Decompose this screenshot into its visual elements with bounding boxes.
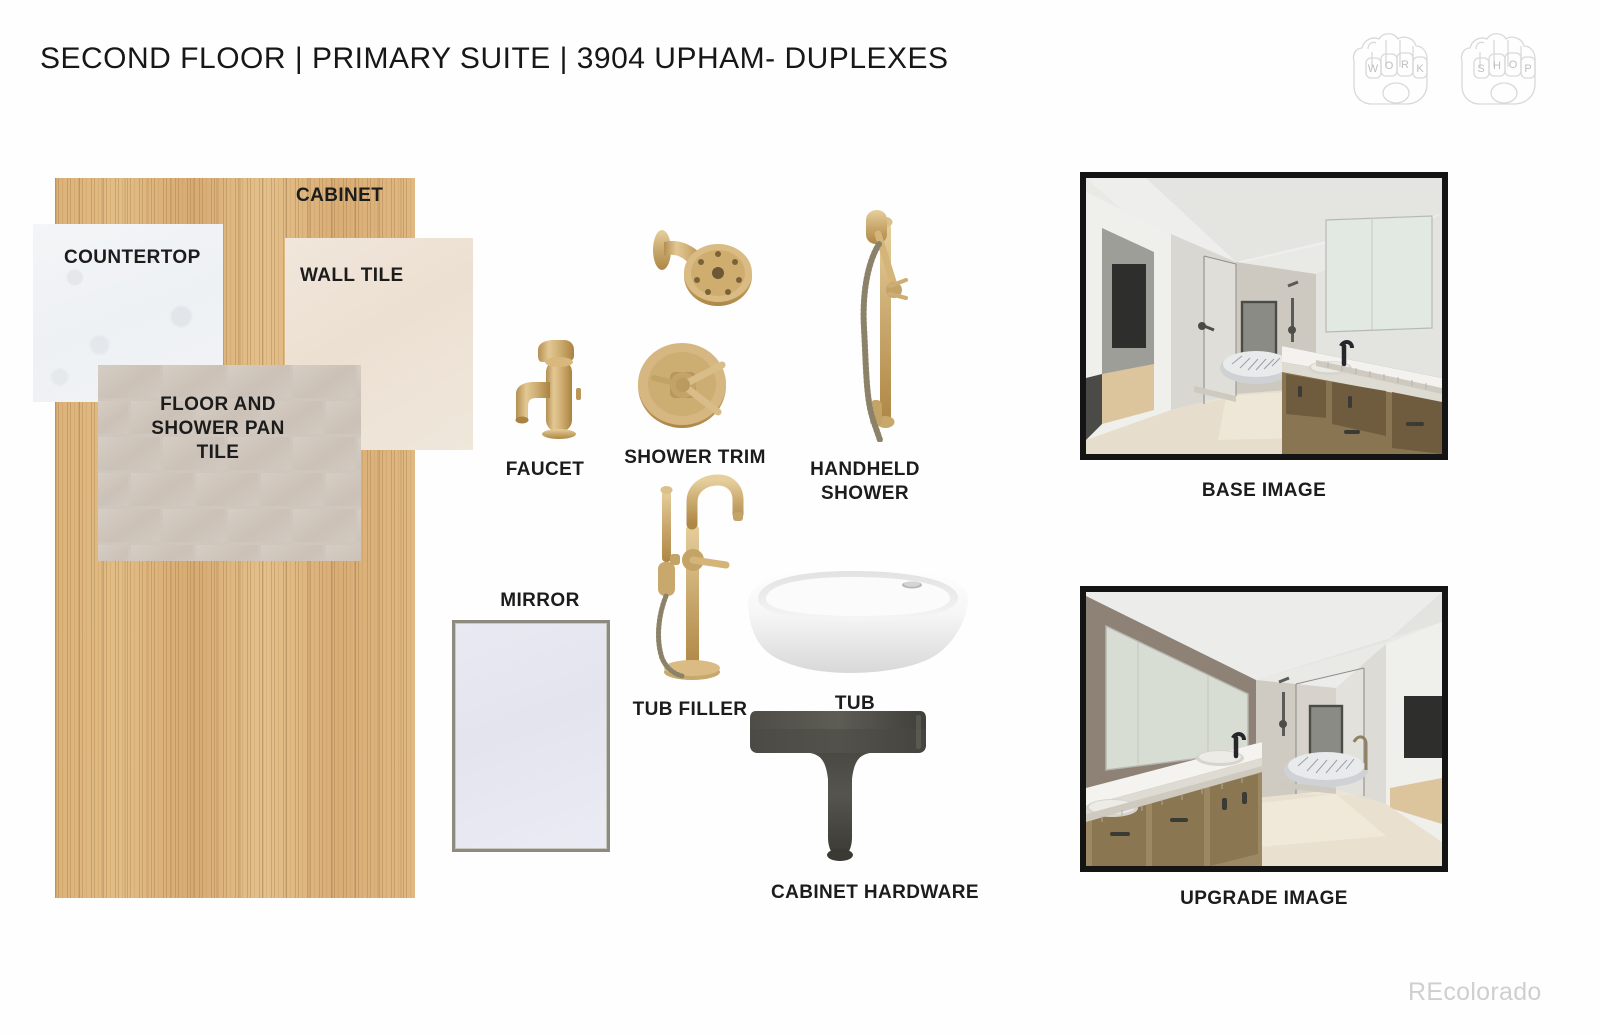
- label-floor-tile: FLOOR AND SHOWER PAN TILE: [143, 393, 293, 464]
- logo-letter: O: [1509, 59, 1518, 71]
- fixture-faucet-image: [498, 322, 608, 457]
- label-shower-trim: SHOWER TRIM: [600, 446, 790, 470]
- recolorado-watermark: REcolorado: [1408, 978, 1542, 1007]
- label-handheld-shower: HANDHELD SHOWER: [780, 458, 950, 506]
- material-swatch-group: CABINET COUNTERTOP WALL TILE FLOOR AND S…: [0, 0, 480, 1035]
- label-wall-tile: WALL TILE: [300, 264, 404, 288]
- fixture-cabinet-hardware-image: [748, 705, 928, 870]
- logo-letter: W: [1368, 63, 1379, 75]
- design-board: SECOND FLOOR | PRIMARY SUITE | 3904 UPHA…: [0, 0, 1600, 1035]
- fixture-handheld-shower-image: [822, 200, 932, 447]
- fixture-tub-filler-image: [630, 468, 750, 688]
- label-upgrade-image: UPGRADE IMAGE: [1080, 888, 1448, 910]
- logo-letter: K: [1416, 63, 1424, 75]
- logo-letter: O: [1385, 60, 1394, 72]
- fixture-tub-image: [740, 555, 976, 685]
- fixture-mirror-image: [452, 620, 610, 852]
- logo-letter: R: [1401, 59, 1409, 71]
- render-upgrade-image: [1080, 586, 1448, 872]
- workshop-logo: W O R K S H O: [1342, 18, 1552, 118]
- label-mirror: MIRROR: [450, 589, 630, 613]
- logo-letter: P: [1524, 63, 1531, 75]
- label-cabinet: CABINET: [296, 184, 383, 208]
- fixture-shower-head-image: [640, 212, 760, 327]
- fixture-shower-trim-image: [626, 332, 744, 445]
- render-base-image: [1080, 172, 1448, 460]
- label-base-image: BASE IMAGE: [1080, 480, 1448, 502]
- label-countertop: COUNTERTOP: [64, 246, 201, 270]
- logo-letter: H: [1493, 60, 1501, 72]
- logo-letter: S: [1477, 63, 1484, 75]
- label-cabinet-hardware: CABINET HARDWARE: [710, 881, 1040, 905]
